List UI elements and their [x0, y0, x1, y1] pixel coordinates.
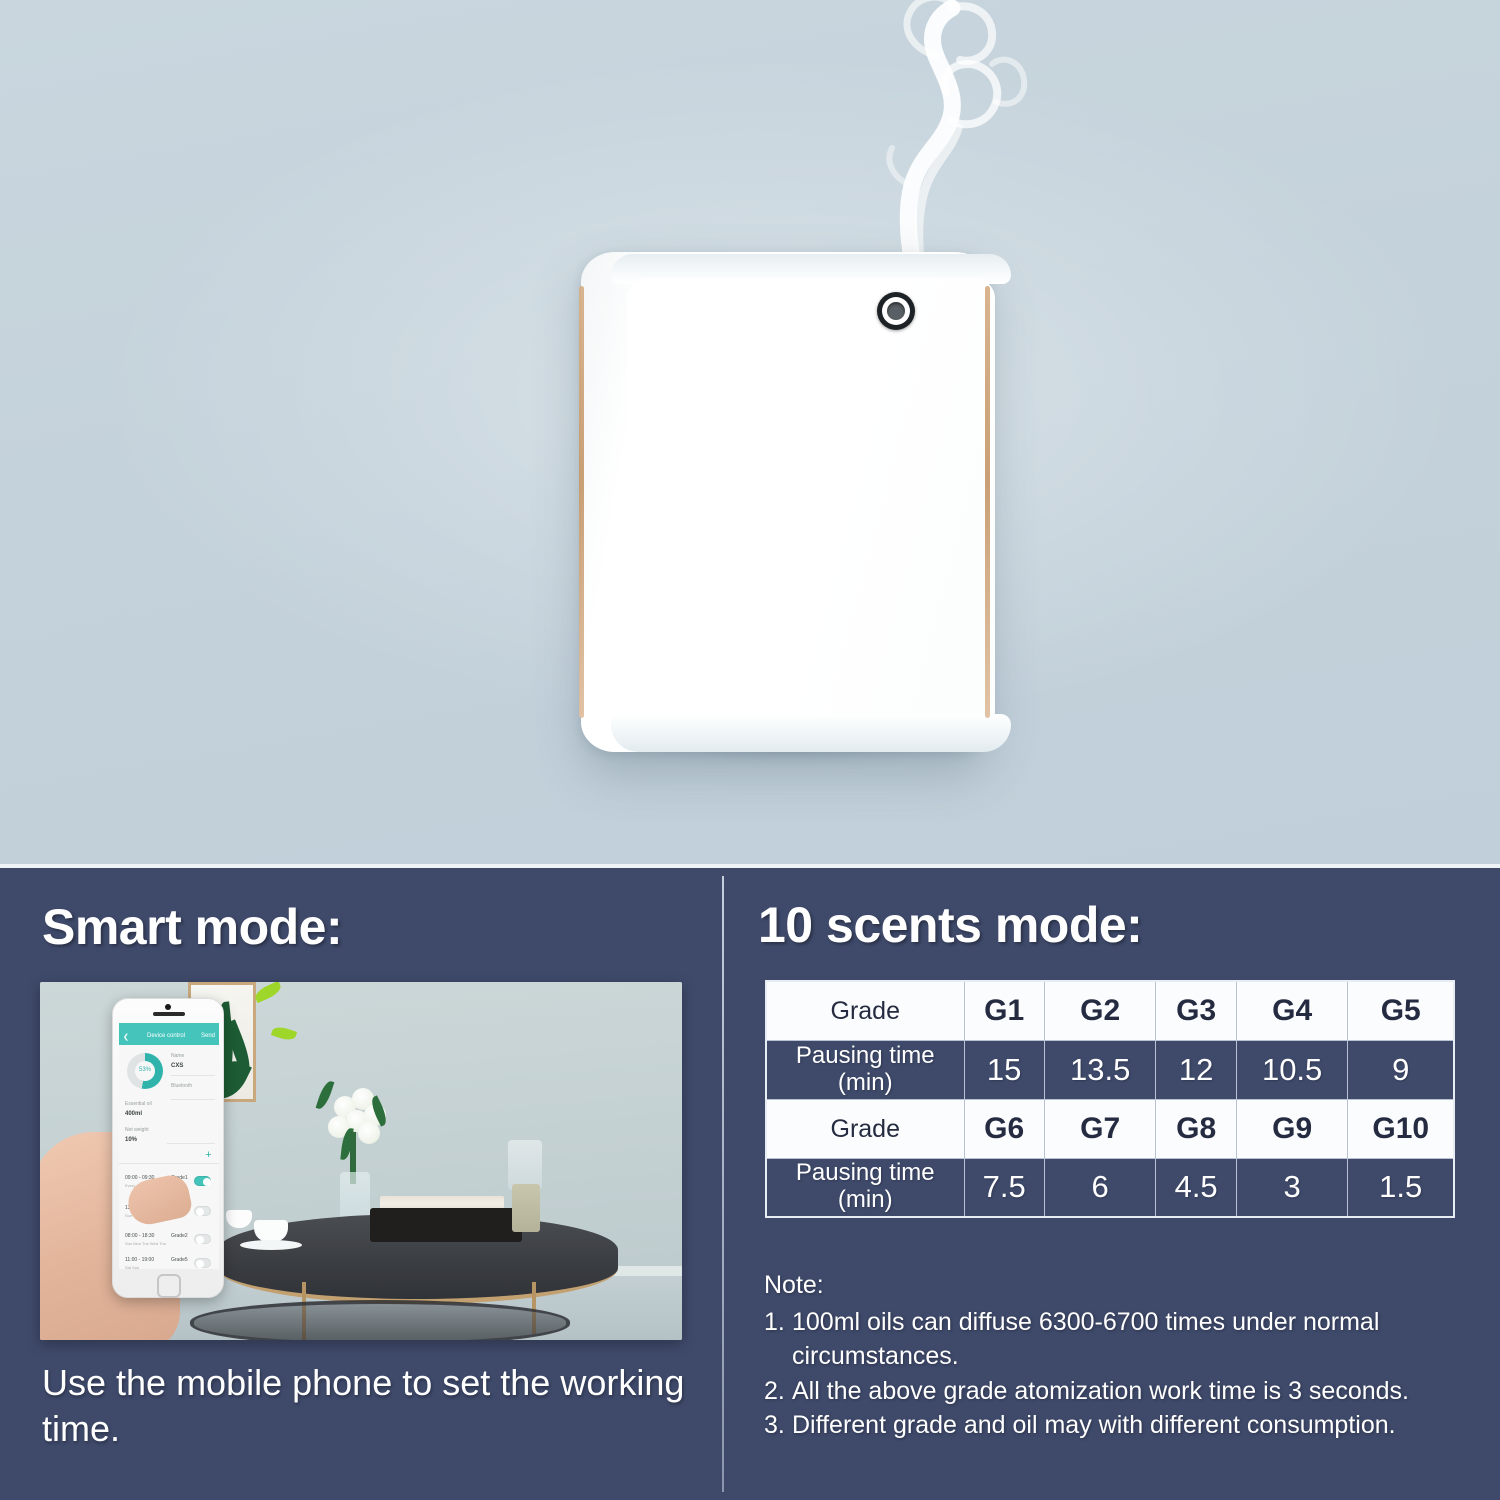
- note-title: Note:: [764, 1268, 1470, 1303]
- app-nav-title: Device control: [147, 1033, 185, 1039]
- hero-product-photo: [0, 0, 1500, 868]
- table-row-pausing-2: Pausing time (min) 7.5 6 4.5 3 1.5: [766, 1158, 1454, 1217]
- row-label-pausing-time: Pausing time (min): [766, 1040, 964, 1099]
- device-body: [581, 252, 989, 752]
- smart-mode-photo: W.: [40, 982, 682, 1340]
- field-label-net-weight: Net weight: [125, 1127, 149, 1133]
- gold-trim-left: [579, 286, 584, 718]
- note-number: 2.: [764, 1374, 792, 1409]
- cell-pausing-time: 7.5: [964, 1158, 1044, 1217]
- cell-grade: G5: [1348, 981, 1454, 1040]
- toggle-knob: [196, 1260, 204, 1268]
- note-number: 1.: [764, 1305, 792, 1374]
- glass-bottle: [508, 1140, 542, 1190]
- home-button[interactable]: [157, 1274, 181, 1298]
- table-row-grade-2: Grade G6 G7 G8 G9 G10: [766, 1099, 1454, 1158]
- info-panel: Smart mode: W.: [0, 868, 1500, 1500]
- note-block: Note: 1. 100ml oils can diffuse 6300-670…: [764, 1268, 1470, 1443]
- list-divider: [119, 1163, 219, 1164]
- cell-grade: G6: [964, 1099, 1044, 1158]
- tea-cup: [254, 1220, 288, 1242]
- cell-pausing-time: 15: [964, 1040, 1044, 1099]
- table-row-grade-1: Grade G1 G2 G3 G4 G5: [766, 981, 1454, 1040]
- device-bottom-lip: [611, 714, 1011, 752]
- note-text: Different grade and oil may with differe…: [792, 1408, 1470, 1443]
- saucer: [240, 1240, 302, 1250]
- back-chevron-icon[interactable]: ❮: [123, 1033, 129, 1041]
- smartphone: ❮ Device control Send 53% Name CXS Bluet…: [112, 998, 224, 1298]
- cell-grade: G4: [1236, 981, 1348, 1040]
- cell-grade: G1: [964, 981, 1044, 1040]
- schedule-row[interactable]: 08:00 - 18:30 Grade2 Sun Mon Tue Wed Thu: [125, 1231, 213, 1257]
- schedule-row[interactable]: 11:00 - 19:00 Grade5 Sat Sun: [125, 1255, 213, 1269]
- cell-pausing-time: 4.5: [1156, 1158, 1236, 1217]
- note-item: 2. All the above grade atomization work …: [764, 1374, 1470, 1409]
- smart-mode-section: Smart mode: W.: [0, 868, 722, 1500]
- cell-pausing-time: 10.5: [1236, 1040, 1348, 1099]
- cell-grade: G3: [1156, 981, 1236, 1040]
- smart-mode-heading: Smart mode:: [42, 898, 342, 956]
- toggle-knob: [196, 1236, 204, 1244]
- smart-mode-caption: Use the mobile phone to set the working …: [42, 1360, 702, 1452]
- table-row-pausing-1: Pausing time (min) 15 13.5 12 10.5 9: [766, 1040, 1454, 1099]
- app-status-bar: [119, 1023, 219, 1031]
- field-underline: [167, 1143, 215, 1144]
- cell-pausing-time: 3: [1236, 1158, 1348, 1217]
- note-text: All the above grade atomization work tim…: [792, 1374, 1470, 1409]
- cell-pausing-time: 12: [1156, 1040, 1236, 1099]
- field-value-essential-oil: 400ml: [125, 1111, 142, 1117]
- note-item: 3. Different grade and oil may with diff…: [764, 1408, 1470, 1443]
- table-lower-shelf: [190, 1300, 570, 1340]
- cell-grade: G2: [1044, 981, 1156, 1040]
- schedule-toggle[interactable]: [194, 1234, 211, 1244]
- note-text: 100ml oils can diffuse 6300-6700 times u…: [792, 1305, 1470, 1374]
- earpiece-speaker: [153, 1012, 185, 1016]
- row-label-pausing-time: Pausing time (min): [766, 1158, 964, 1217]
- field-label-name: Name: [171, 1053, 184, 1059]
- gold-trim-right: [985, 286, 990, 718]
- note-number: 3.: [764, 1408, 792, 1443]
- cell-grade: G8: [1156, 1099, 1236, 1158]
- schedule-time: 11:00 - 19:00: [125, 1257, 154, 1263]
- product-infographic: Smart mode: W.: [0, 0, 1500, 1500]
- diffuser-device: [555, 252, 1015, 752]
- cell-pausing-time: 6: [1044, 1158, 1156, 1217]
- app-send-button[interactable]: Send: [201, 1033, 215, 1039]
- flower: [358, 1122, 380, 1144]
- schedule-days: Sat Sun: [125, 1265, 139, 1269]
- cell-pausing-time: 1.5: [1348, 1158, 1454, 1217]
- phone-screen[interactable]: ❮ Device control Send 53% Name CXS Bluet…: [119, 1023, 219, 1269]
- field-value-name[interactable]: CXS: [171, 1063, 183, 1069]
- row-label-main: Pausing time: [796, 1159, 935, 1186]
- cell-grade: G9: [1236, 1099, 1348, 1158]
- note-item: 1. 100ml oils can diffuse 6300-6700 time…: [764, 1305, 1470, 1374]
- candle: [512, 1184, 540, 1232]
- row-label-main: Pausing time: [796, 1042, 935, 1069]
- schedule-grade: Grade2: [171, 1233, 188, 1239]
- black-tray: [370, 1208, 522, 1242]
- row-label-grade: Grade: [766, 1099, 964, 1158]
- grade-pausing-time-table: Grade G1 G2 G3 G4 G5 Pausing time (min) …: [765, 980, 1455, 1218]
- row-label-sub: (min): [773, 1187, 958, 1214]
- schedule-toggle[interactable]: [194, 1176, 211, 1186]
- row-label-grade: Grade: [766, 981, 964, 1040]
- field-label-essential-oil: Essential oil: [125, 1101, 152, 1107]
- scents-mode-heading: 10 scents mode:: [758, 896, 1142, 954]
- flower-bouquet: [308, 1078, 404, 1156]
- cell-grade: G10: [1348, 1099, 1454, 1158]
- field-label-bluetooth: Bluetooth: [171, 1083, 192, 1089]
- cell-grade: G7: [1044, 1099, 1156, 1158]
- front-camera-icon: [165, 1004, 171, 1010]
- field-value-net-weight: 10%: [125, 1137, 137, 1143]
- flower-leaf: [316, 1079, 335, 1111]
- add-schedule-icon[interactable]: +: [204, 1151, 213, 1160]
- scents-mode-section: 10 scents mode: Grade G1 G2 G3 G4 G5 Pau…: [724, 868, 1500, 1500]
- schedule-time: 08:00 - 18:30: [125, 1233, 154, 1239]
- cell-pausing-time: 9: [1348, 1040, 1454, 1099]
- field-underline: [171, 1099, 215, 1100]
- cell-pausing-time: 13.5: [1044, 1040, 1156, 1099]
- device-front-panel: [627, 278, 995, 736]
- app-nav-bar: ❮ Device control Send: [119, 1031, 219, 1045]
- schedule-toggle[interactable]: [194, 1258, 211, 1268]
- toggle-knob: [203, 1178, 211, 1186]
- toggle-knob: [196, 1208, 204, 1216]
- schedule-days: Sun Mon Tue Wed Thu: [125, 1241, 166, 1246]
- oil-level-value: 53%: [129, 1067, 161, 1073]
- row-label-sub: (min): [773, 1070, 958, 1097]
- schedule-grade: Grade5: [171, 1257, 188, 1263]
- mist-nozzle-icon: [877, 292, 915, 330]
- schedule-toggle[interactable]: [194, 1206, 211, 1216]
- field-underline: [171, 1075, 215, 1076]
